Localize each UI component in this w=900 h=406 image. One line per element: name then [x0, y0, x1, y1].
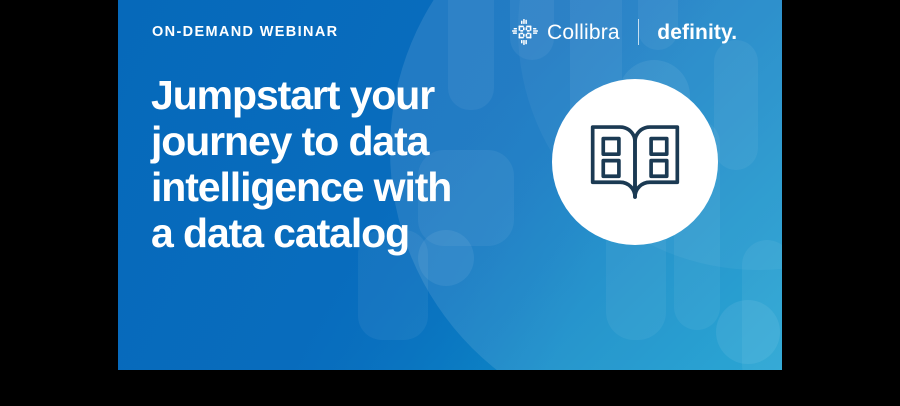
definity-wordmark: definity.: [657, 22, 737, 43]
screenshot-canvas: ON-DEMAND WEBINAR: [0, 0, 900, 406]
decorative-dot: [716, 300, 780, 364]
headline-line-3: intelligence with: [151, 165, 521, 211]
headline-line-2: journey to data: [151, 119, 521, 165]
open-book-icon: [589, 116, 681, 208]
collibra-wordmark: Collibra: [547, 22, 620, 43]
webinar-banner: ON-DEMAND WEBINAR: [118, 0, 782, 370]
decorative-bar: [714, 40, 758, 170]
eyebrow-label: ON-DEMAND WEBINAR: [152, 24, 338, 40]
icon-badge: [552, 79, 718, 245]
headline-line-1: Jumpstart your: [151, 73, 521, 119]
logo-lockup: Collibra definity.: [512, 17, 737, 47]
logo-divider: [638, 19, 640, 45]
collibra-grid-mark: [512, 19, 538, 45]
page-title: Jumpstart your journey to data intellige…: [151, 73, 521, 257]
headline-line-4: a data catalog: [151, 211, 521, 257]
